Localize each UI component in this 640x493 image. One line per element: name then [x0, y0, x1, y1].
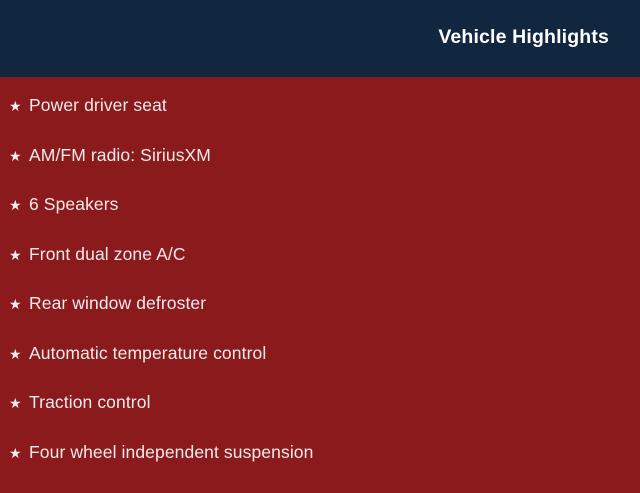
list-item: ★ Power driver seat	[0, 97, 640, 147]
star-icon: ★	[9, 149, 29, 163]
list-item: ★ Automatic temperature control	[0, 345, 640, 395]
list-item-label: AM/FM radio: SiriusXM	[29, 147, 211, 165]
vehicle-highlights-list: ★ Power driver seat ★ AM/FM radio: Siriu…	[0, 77, 640, 493]
list-item: ★ Front dual zone A/C	[0, 246, 640, 296]
star-icon: ★	[9, 248, 29, 262]
star-icon: ★	[9, 297, 29, 311]
list-item-label: Four wheel independent suspension	[29, 444, 313, 462]
list-item: ★ Rear window defroster	[0, 295, 640, 345]
star-icon: ★	[9, 347, 29, 361]
list-item-label: Front dual zone A/C	[29, 246, 186, 264]
list-item-label: Automatic temperature control	[29, 345, 266, 363]
list-item-label: Traction control	[29, 394, 151, 412]
list-item-label: Rear window defroster	[29, 295, 206, 313]
list-item-label: Power driver seat	[29, 97, 167, 115]
star-icon: ★	[9, 396, 29, 410]
list-item-label: 6 Speakers	[29, 196, 119, 214]
star-icon: ★	[9, 99, 29, 113]
list-item: ★ Four wheel independent suspension	[0, 444, 640, 493]
slide-header-bar: Vehicle Highlights	[0, 0, 640, 77]
page-title: Vehicle Highlights	[438, 28, 609, 48]
star-icon: ★	[9, 446, 29, 460]
list-item: ★ Traction control	[0, 394, 640, 444]
highlights-panel: ★ Power driver seat ★ AM/FM radio: Siriu…	[0, 77, 640, 480]
vehicle-highlights-slide: Vehicle Highlights ★ Power driver seat ★…	[0, 0, 640, 480]
list-item: ★ AM/FM radio: SiriusXM	[0, 147, 640, 197]
star-icon: ★	[9, 198, 29, 212]
list-item: ★ 6 Speakers	[0, 196, 640, 246]
